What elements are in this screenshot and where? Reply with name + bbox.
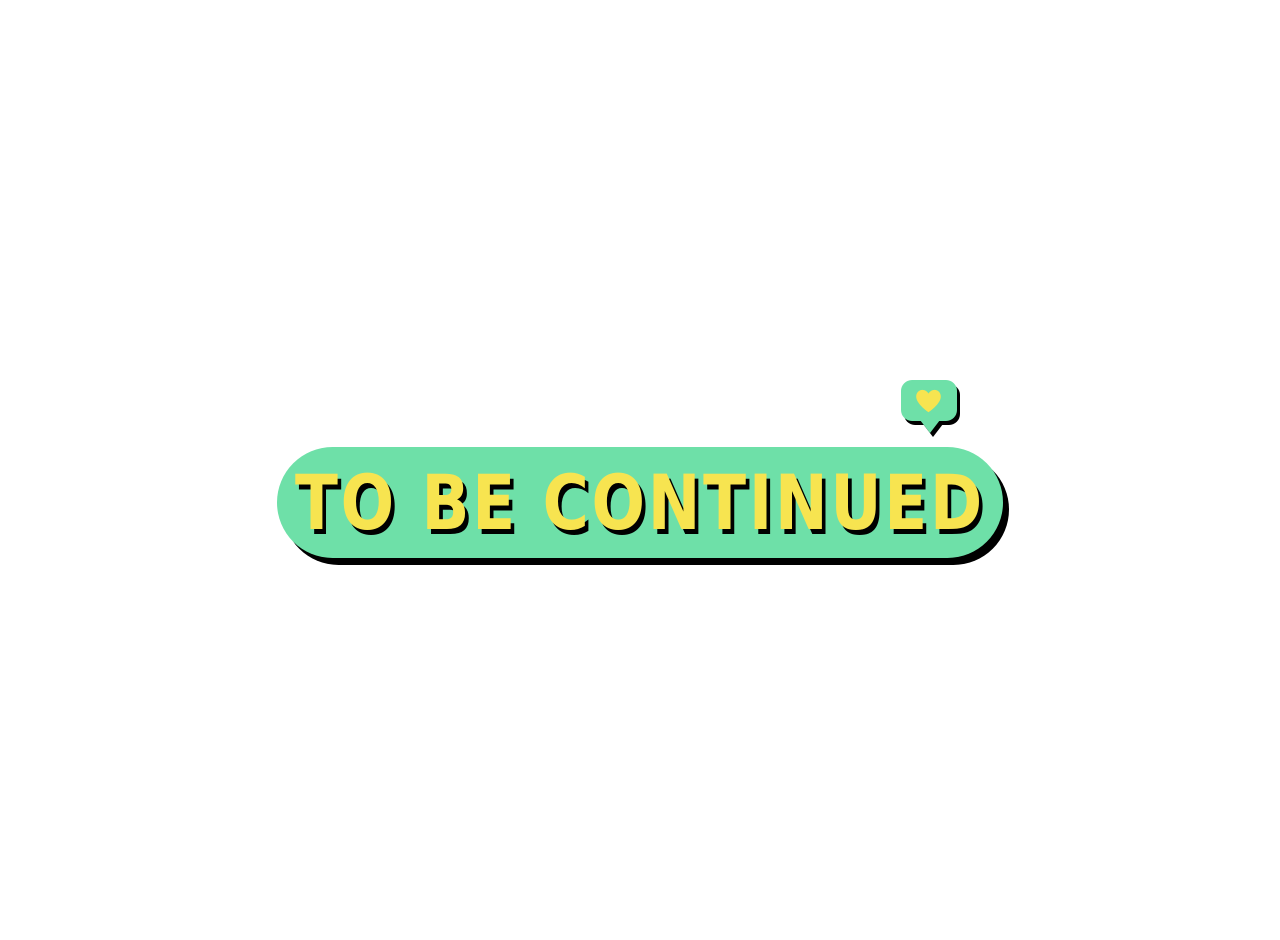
canvas: TO BE CONTINUED: [0, 0, 1280, 940]
bubble-tail: [920, 420, 940, 433]
to-be-continued-button[interactable]: TO BE CONTINUED: [277, 447, 1003, 558]
to-be-continued-label: TO BE CONTINUED: [295, 465, 985, 541]
to-be-continued-button-wrapper: TO BE CONTINUED: [277, 447, 1003, 558]
heart-icon: [915, 389, 942, 413]
heart-notification-bubble[interactable]: [901, 380, 957, 421]
